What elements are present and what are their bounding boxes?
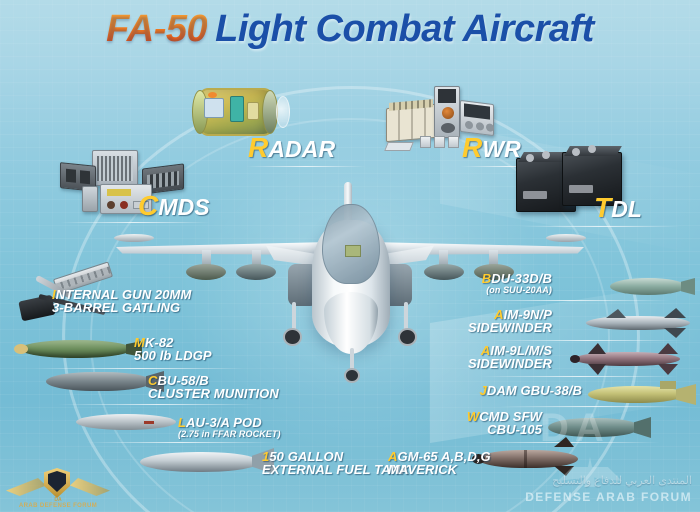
label-aim9lms-line2: SIDEWINDER — [426, 357, 552, 370]
tdl-connector-2 — [542, 151, 550, 159]
page-title: FA-50Light Combat Aircraft — [0, 8, 700, 51]
mk82-nose — [14, 344, 28, 354]
cluster-bomb-icon — [46, 372, 152, 391]
arab-defense-forum-logo: DA ARAB DEFENSE FORUM — [6, 466, 110, 510]
main-wheel-left — [283, 328, 302, 346]
external-fuel-tank-icon — [140, 452, 260, 472]
cmds-knob-1 — [107, 201, 115, 209]
rwr-dial-primary — [442, 107, 454, 119]
label-radar-rest: ADAR — [268, 136, 335, 162]
title-subtitle: Light Combat Aircraft — [215, 8, 594, 50]
label-rwr: RWR — [462, 136, 521, 161]
hud-glass — [345, 245, 361, 257]
rwr-knob-2 — [476, 122, 484, 131]
bdu33-body — [610, 278, 686, 295]
cmds-knob-2 — [120, 201, 128, 209]
nose-wheel — [344, 368, 360, 383]
label-tdl-rest: DL — [611, 196, 642, 222]
aim9lms-fin-bottom — [658, 364, 678, 375]
rwr-antenna-3 — [448, 136, 459, 148]
cbu105-body — [548, 418, 640, 437]
tdl-connector-3 — [572, 148, 580, 156]
radar-module-a — [204, 98, 224, 118]
bdu33-tail-fins — [681, 278, 695, 295]
cmds-sequencer — [82, 186, 98, 212]
label-internal-gun-line2: 3-BARREL GATLING — [52, 301, 191, 314]
rwr-knob-3 — [486, 123, 494, 132]
cbu58-body — [46, 372, 152, 391]
rwr-mount-plate — [384, 142, 414, 151]
label-radar-initial: R — [248, 132, 268, 163]
label-lau3-underline — [86, 442, 276, 443]
label-aim9np: AIM-9N/P SIDEWINDER — [436, 308, 552, 334]
rwr-antenna-1 — [420, 136, 431, 148]
label-cmds-initial: C — [138, 190, 158, 221]
logo-name: ARAB DEFENSE FORUM — [6, 503, 110, 509]
wind-corrected-munition-icon — [548, 418, 640, 437]
aim9lms-canard-bottom — [588, 364, 606, 375]
label-aim9np-line2: SIDEWINDER — [436, 321, 552, 334]
jdam-bomb-icon — [588, 386, 684, 403]
maverick-band — [524, 450, 527, 468]
rwr-control-unit — [460, 100, 494, 136]
main-wheel-right — [398, 328, 417, 346]
lau3-body — [76, 414, 176, 430]
aim9lms-fin-top — [658, 343, 678, 354]
rwr-antenna-2 — [434, 136, 445, 148]
label-cbu105: WCMD SFW CBU-105 — [426, 410, 542, 436]
canopy — [322, 204, 380, 284]
aim9np-body — [586, 316, 690, 330]
store-left-inner — [236, 264, 276, 280]
logo-shield-icon — [44, 468, 70, 498]
aim9lms-body — [574, 352, 680, 366]
label-tdl-initial: T — [594, 192, 611, 223]
label-jdam: JDAM GBU-38/B — [436, 384, 582, 397]
radar-nose-cone-assembly-icon — [190, 84, 290, 140]
aim9np-fin-bottom — [664, 328, 686, 338]
label-rwr-initial: R — [462, 132, 482, 163]
aim9np-fin-top — [664, 308, 686, 318]
maverick-fin-top — [554, 437, 574, 447]
label-cbu58: CBU-58/B CLUSTER MUNITION — [148, 374, 279, 400]
sidewinder-missile-np-icon — [586, 316, 690, 330]
maverick-missile-icon — [478, 450, 578, 468]
aim9lms-seeker — [570, 355, 580, 363]
label-cbu105-initial: W — [467, 409, 479, 424]
mk82-body — [20, 340, 132, 358]
cmds-display-strip — [107, 189, 131, 196]
jdam-guidance-kit — [660, 381, 676, 389]
tdl-connector-1 — [526, 154, 534, 162]
label-cbu58-underline — [58, 404, 258, 405]
label-bdu33: BDU-33D/B (on SUU-20AA) — [436, 272, 552, 296]
label-mk82: MK-82 500 lb LDGP — [134, 336, 212, 362]
label-internal-gun: INTERNAL GUN 20MM 3-BARREL GATLING — [52, 288, 191, 314]
sidewinder-missile-lms-icon — [574, 352, 680, 366]
cmds-dispenser — [92, 150, 138, 186]
watermark-arabic-text: المنتدى العربي للدفاع والتسليح — [552, 474, 692, 487]
title-model: FA-50 — [106, 8, 207, 50]
label-bdu33-sub: (on SUU-20AA) — [436, 285, 552, 296]
jdam-tail-fins — [676, 384, 696, 405]
radar-module-b — [230, 96, 244, 122]
nose-cone — [324, 292, 378, 354]
maverick-body — [478, 450, 578, 468]
label-bdu33-rest: DU-33D/B — [491, 271, 552, 286]
wingtip-missile-left — [114, 234, 154, 242]
infographic-poster: FA-50Light Combat Aircraft — [0, 0, 700, 512]
logo-wing-left — [6, 478, 46, 496]
label-tdl: TDL — [594, 196, 642, 221]
practice-bomb-icon — [610, 278, 686, 295]
rwr-knob-1 — [465, 121, 473, 130]
label-aim9lms: AIM-9L/M/S SIDEWINDER — [426, 344, 552, 370]
aim9lms-canard-top — [588, 343, 606, 354]
rwr-dial-secondary — [441, 123, 455, 133]
radar-indicator — [208, 92, 217, 98]
label-cmds-rest: MDS — [158, 194, 209, 220]
label-lau3: LAU-3/A POD (2.75 in FFAR ROCKET) — [178, 416, 281, 440]
label-lau3-sub: (2.75 in FFAR ROCKET) — [178, 429, 281, 440]
fuel-tank-body — [140, 452, 260, 472]
mk82-bomb-icon — [20, 340, 132, 358]
rocket-pod-icon — [76, 414, 176, 430]
store-left-outer — [186, 264, 226, 280]
rwr-display-screen — [438, 89, 456, 103]
aim9np-canard — [606, 309, 626, 318]
lau3-marking — [144, 421, 154, 424]
cbu105-tail-fins — [634, 417, 651, 438]
watermark-english-text: DEFENSE ARAB FORUM — [525, 490, 692, 504]
label-radar-underline — [246, 166, 366, 167]
radar-module-c — [247, 102, 259, 120]
label-cmds: CMDS — [138, 194, 210, 219]
label-cbu105-line2: CBU-105 — [426, 423, 542, 436]
label-mk82-line2: 500 lb LDGP — [134, 349, 212, 362]
label-cbu58-line2: CLUSTER MUNITION — [148, 387, 279, 400]
logo-wing-right — [70, 478, 110, 496]
label-lau3-rest: AU-3/A POD — [186, 415, 262, 430]
label-jdam-rest: DAM GBU-38/B — [487, 383, 582, 398]
label-maverick-line2: MAVERICK — [388, 463, 491, 476]
rwr-display-unit — [434, 86, 460, 138]
label-radar: RADAR — [248, 136, 335, 161]
label-bdu33-initial: B — [482, 271, 492, 286]
label-jdam-initial: J — [480, 383, 487, 398]
radar-antenna-dish — [276, 96, 290, 128]
tdl-connector-4 — [588, 145, 596, 153]
wingtip-missile-right — [546, 234, 586, 242]
label-maverick: AGM-65 A,B,D,G MAVERICK — [388, 450, 491, 476]
label-lau3-initial: L — [178, 415, 186, 430]
rwr-control-panel — [464, 103, 490, 119]
label-jdam-underline — [500, 406, 690, 407]
